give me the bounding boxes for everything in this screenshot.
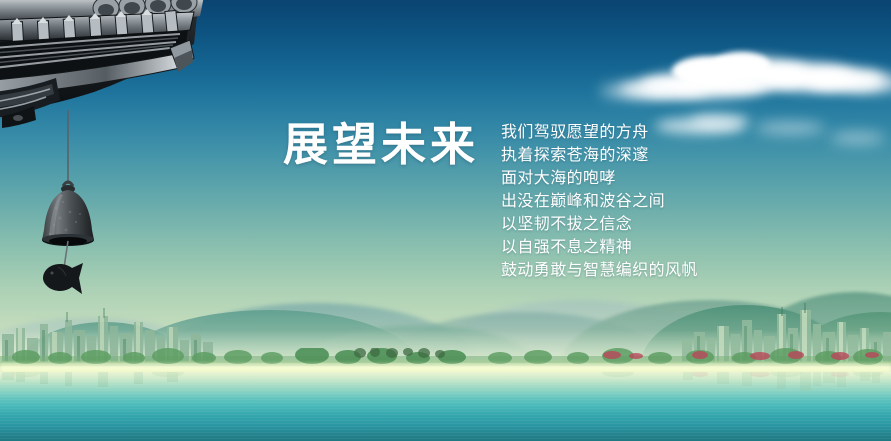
poem-line-4: 出没在巅峰和波谷之间 — [501, 189, 731, 212]
poem-line-5: 以坚韧不拔之信念 — [501, 212, 731, 235]
bell-fish-clapper — [43, 263, 83, 294]
poem-line-7: 鼓动勇敢与智慧编织的风帆 — [501, 258, 731, 281]
reflection-haze — [0, 372, 891, 398]
lake-water — [0, 372, 891, 441]
promo-banner: 展望未来 我们驾驭愿望的方舟 执着探索苍海的深邃 面对大海的咆哮 出没在巅峰和波… — [0, 0, 891, 441]
poem-block: 我们驾驭愿望的方舟 执着探索苍海的深邃 面对大海的咆哮 出没在巅峰和波谷之间 以… — [501, 120, 731, 281]
poem-line-1: 我们驾驭愿望的方舟 — [501, 120, 731, 143]
poem-line-6: 以自强不息之精神 — [501, 235, 731, 258]
wind-bell — [30, 110, 120, 295]
page-title: 展望未来 — [283, 122, 479, 167]
poem-line-2: 执着探索苍海的深邃 — [501, 143, 731, 166]
poem-line-3: 面对大海的咆哮 — [501, 166, 731, 189]
